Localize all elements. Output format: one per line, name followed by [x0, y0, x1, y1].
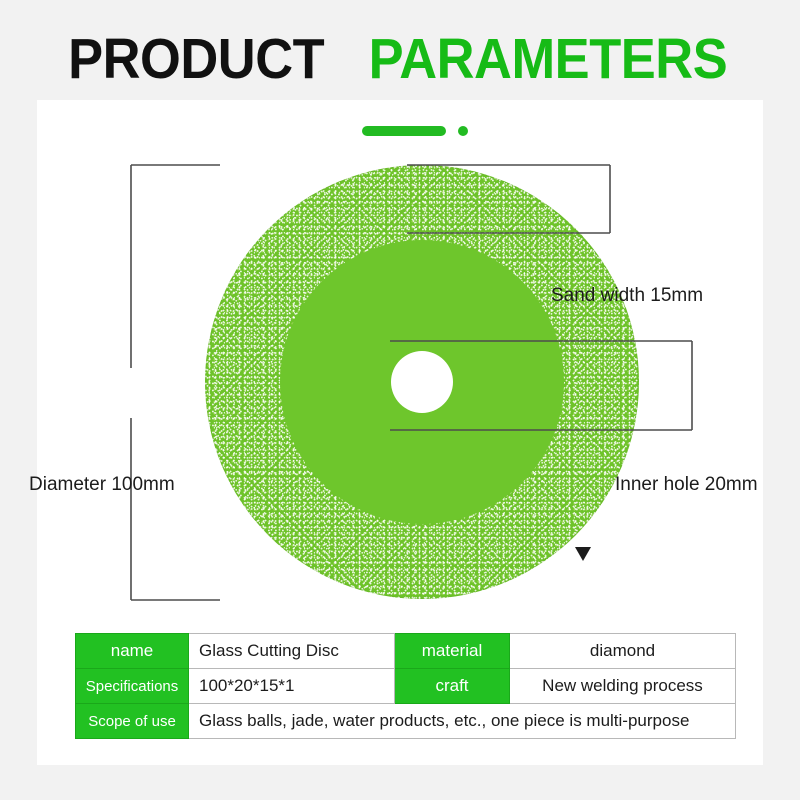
- product-diagram-card: Diameter 100mm Sand width 15mm Inner hol…: [37, 100, 763, 765]
- page-title-word-product: PRODUCT: [68, 31, 324, 88]
- page-title: PRODUCT PARAMETERS: [0, 28, 800, 90]
- table-row: name Glass Cutting Disc material diamond: [76, 634, 736, 669]
- cutting-disc-illustration: [205, 165, 639, 599]
- table-cell-value-craft: New welding process: [510, 669, 736, 704]
- disc-edge-bar-icon: [362, 126, 446, 136]
- table-cell-value-specifications: 100*20*15*1: [189, 669, 395, 704]
- table-cell-key-scope-of-use: Scope of use: [76, 704, 189, 739]
- table-row: Scope of use Glass balls, jade, water pr…: [76, 704, 736, 739]
- table-cell-key-craft: craft: [395, 669, 510, 704]
- table-cell-value-scope-of-use: Glass balls, jade, water products, etc.,…: [189, 704, 736, 739]
- table-cell-value-material: diamond: [510, 634, 736, 669]
- callout-label-diameter: Diameter 100mm: [29, 475, 175, 494]
- callout-label-inner-hole: Inner hole 20mm: [615, 475, 758, 494]
- table-cell-key-specifications: Specifications: [76, 669, 189, 704]
- disc-edge-dot-icon: [458, 126, 468, 136]
- page-title-word-parameters: PARAMETERS: [369, 31, 728, 88]
- table-cell-key-material: material: [395, 634, 510, 669]
- table-row: Specifications 100*20*15*1 craft New wel…: [76, 669, 736, 704]
- table-cell-value-name: Glass Cutting Disc: [189, 634, 395, 669]
- disc-edge-profile-view: [362, 123, 482, 139]
- table-cell-key-name: name: [76, 634, 189, 669]
- specification-table: name Glass Cutting Disc material diamond…: [75, 633, 736, 739]
- disc-inner-hole: [391, 351, 453, 413]
- callout-label-sand-width: Sand width 15mm: [551, 286, 703, 305]
